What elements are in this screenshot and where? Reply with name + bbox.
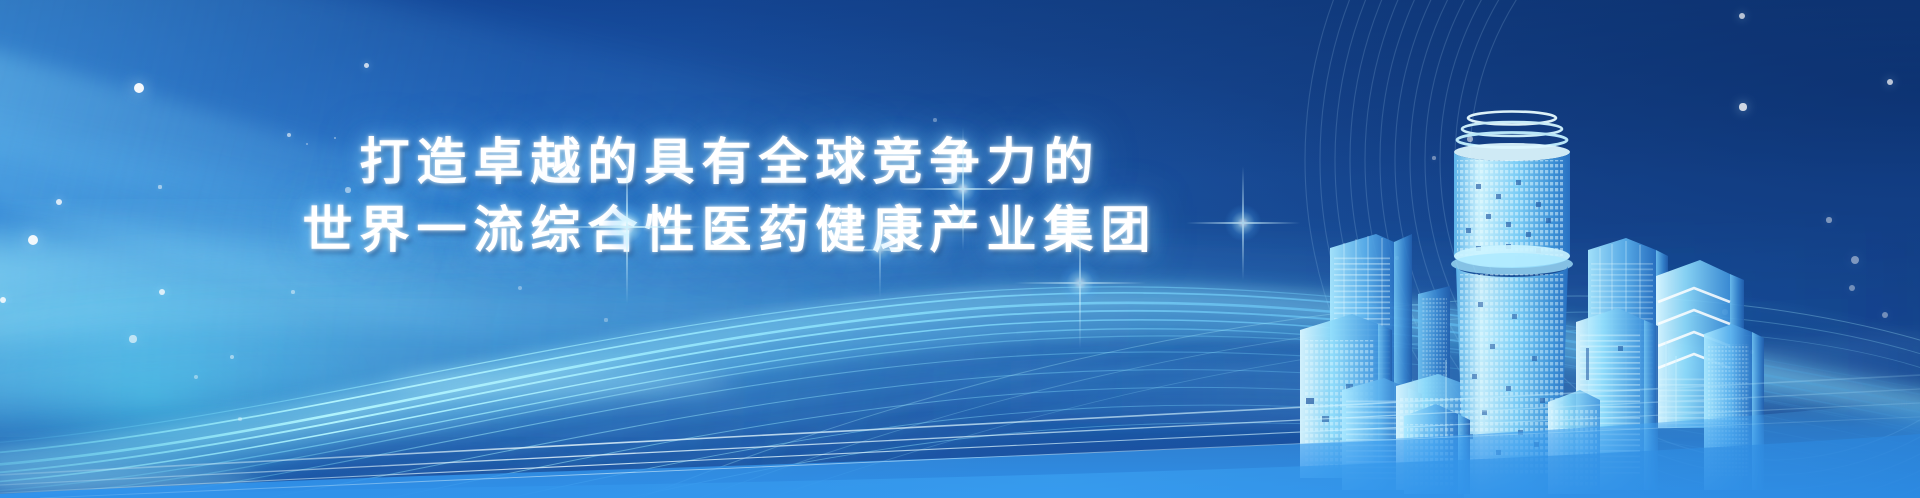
water-plane [0, 348, 1920, 498]
hero-banner: 打造卓越的具有全球竞争力的 世界一流综合性医药健康产业集团 [0, 0, 1920, 498]
headline-line-1: 打造卓越的具有全球竞争力的 [0, 128, 1460, 196]
page-title: 打造卓越的具有全球竞争力的 世界一流综合性医药健康产业集团 [0, 128, 1460, 264]
headline-line-2: 世界一流综合性医药健康产业集团 [0, 196, 1460, 264]
